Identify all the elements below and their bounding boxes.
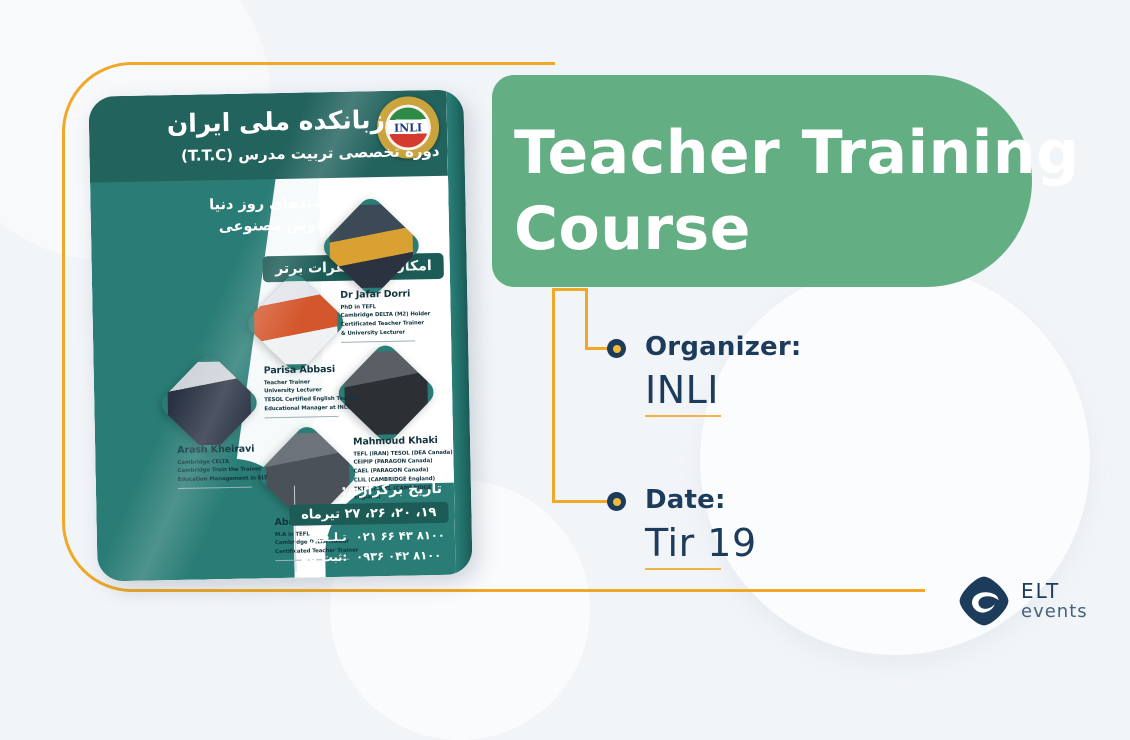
date-value: Tir 19 [645, 521, 757, 565]
instructor-name: Parisa Abbasi [264, 363, 360, 376]
register-label: ثبت نام: [300, 547, 347, 568]
phone-number: ۰۲۱ ۶۶ ۴۳ ۸۱۰۰ [355, 525, 445, 547]
poster-contact-labels: تـلـفـن ثبت نام: [300, 527, 348, 568]
poster-date-label: تاریخ برگزاری: [341, 481, 442, 499]
logo-line-2: events [1021, 603, 1088, 621]
detail-organizer: Organizer: INLI [645, 332, 802, 417]
frame-arm-top [470, 62, 555, 65]
instructor-credentials: Cambridge CELTA Cambridge Train the Trai… [177, 457, 267, 485]
poster-inner: INLI زبانکده ملی ایران دوره تخصصی تربیت … [88, 90, 455, 582]
instructor-credentials: Teacher Trainer University Lecturer TESO… [264, 377, 360, 414]
title-banner: Teacher Training Course [492, 75, 1032, 287]
date-label: Date: [645, 485, 757, 515]
instructor-info-4: Arash Kheiravi Cambridge CELTA Cambridge… [177, 443, 268, 488]
bullet-marker-organizer [607, 339, 626, 358]
connector-vertical-main [552, 288, 555, 503]
organizer-label: Organizer: [645, 332, 802, 362]
logo-line-1: ELT [1021, 581, 1088, 601]
title-line-2: Course [514, 192, 1032, 268]
phone-label: تـلـفـن [300, 527, 347, 548]
poster-contact: تـلـفـن ثبت نام: ۰۲۱ ۶۶ ۴۳ ۸۱۰۰ ۰۹۳۶ ۰۴۲… [300, 525, 446, 568]
instructor-name: Mahmoud Khaki [353, 435, 453, 448]
logo-wordmark: ELT events [1021, 581, 1088, 621]
organizer-underline [645, 415, 721, 417]
title-line-1: Teacher Training [514, 116, 1032, 192]
instructor-info-2: Parisa Abbasi Teacher Trainer University… [264, 363, 360, 417]
detail-date: Date: Tir 19 [645, 485, 757, 570]
date-underline [645, 568, 721, 570]
poster-date-value: ۱۹، ۲۰، ۲۶، ۲۷ تیرماه [289, 502, 449, 526]
instructor-info-1: Dr Jafar Dorri PhD in TEFL Cambridge DEL… [340, 288, 431, 342]
instructor-credentials: PhD in TEFL Cambridge DELTA (M2) Holder … [340, 302, 430, 339]
elt-events-logo: ELT events [958, 575, 1088, 627]
frame-arm-bottom [470, 589, 925, 592]
event-poster[interactable]: INLI زبانکده ملی ایران دوره تخصصی تربیت … [88, 89, 472, 581]
connector-date-arm [552, 500, 613, 503]
poster-contact-numbers: ۰۲۱ ۶۶ ۴۳ ۸۱۰۰ ۰۹۳۶ ۰۴۲ ۸۱۰۰ [355, 525, 445, 567]
poster-institute-title: زبانکده ملی ایران [167, 105, 386, 138]
connector-organizer-stem [552, 288, 588, 291]
elt-e-swoosh-icon [958, 575, 1010, 627]
register-number: ۰۹۳۶ ۰۴۲ ۸۱۰۰ [356, 545, 446, 567]
organizer-value: INLI [645, 368, 802, 412]
instructor-name: Arash Kheiravi [177, 443, 267, 456]
instructor-name: Dr Jafar Dorri [340, 288, 430, 301]
bullet-marker-date [607, 492, 626, 511]
connector-organizer-vertical [585, 288, 588, 350]
